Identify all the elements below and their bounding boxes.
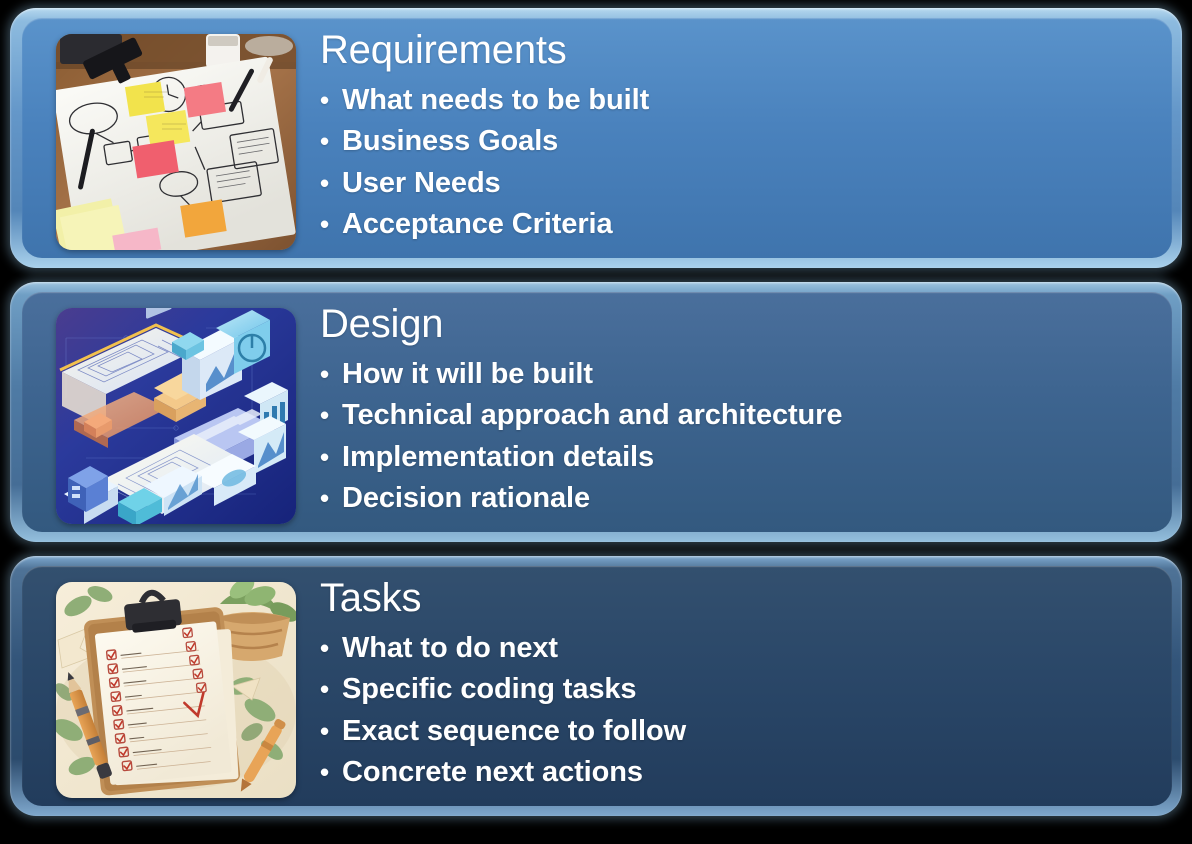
sticky-notes-whiteboard-photo-icon [56,34,296,250]
bullet-dot-icon: • [320,402,342,428]
list-item-label: Business Goals [342,121,558,162]
bullet-dot-icon: • [320,485,342,511]
card-tasks[interactable]: Tasks • What to do next • Specific codin… [10,556,1182,816]
list-item-label: Decision rationale [342,478,590,519]
card-tasks-inner: Tasks • What to do next • Specific codin… [22,566,1172,806]
list-item-label: How it will be built [342,354,593,395]
page-title-design: Design [320,304,1164,344]
list-item: • How it will be built [320,354,1164,395]
bullet-dot-icon: • [320,718,342,744]
card-design-inner: Design • How it will be built • Technica… [22,292,1172,532]
card-design-content: Design • How it will be built • Technica… [296,298,1164,520]
page-title-tasks: Tasks [320,578,1164,618]
list-item-label: What needs to be built [342,80,649,121]
list-item: • Implementation details [320,437,1164,478]
bullet-list-design: • How it will be built • Technical appro… [320,354,1164,520]
list-item: • Specific coding tasks [320,669,1164,710]
list-item-label: Acceptance Criteria [342,204,613,245]
bullet-dot-icon: • [320,128,342,154]
list-item-label: Concrete next actions [342,752,643,793]
card-tasks-content: Tasks • What to do next • Specific codin… [296,572,1164,794]
list-item: • What to do next [320,628,1164,669]
list-item-label: Exact sequence to follow [342,711,686,752]
list-item: • Concrete next actions [320,752,1164,793]
list-item-label: Specific coding tasks [342,669,636,710]
clipboard-checklist-illustration-icon [56,582,296,798]
bullet-dot-icon: • [320,87,342,113]
list-item: • Decision rationale [320,478,1164,519]
bullet-dot-icon: • [320,170,342,196]
bullet-list-tasks: • What to do next • Specific coding task… [320,628,1164,794]
list-item: • What needs to be built [320,80,1164,121]
list-item-label: User Needs [342,163,501,204]
list-item: • Business Goals [320,121,1164,162]
page-title-requirements: Requirements [320,30,1164,70]
list-item: • Exact sequence to follow [320,711,1164,752]
bullet-dot-icon: • [320,444,342,470]
list-item: • Technical approach and architecture [320,395,1164,436]
list-item: • Acceptance Criteria [320,204,1164,245]
bullet-dot-icon: • [320,759,342,785]
card-requirements-inner: Requirements • What needs to be built • … [22,18,1172,258]
list-item-label: Implementation details [342,437,654,478]
bullet-list-requirements: • What needs to be built • Business Goal… [320,80,1164,246]
bullet-dot-icon: • [320,211,342,237]
list-item: • User Needs [320,163,1164,204]
bullet-dot-icon: • [320,635,342,661]
bullet-dot-icon: • [320,676,342,702]
isometric-blueprint-illustration-icon [56,308,296,524]
list-item-label: What to do next [342,628,558,669]
card-requirements[interactable]: Requirements • What needs to be built • … [10,8,1182,268]
list-item-label: Technical approach and architecture [342,395,842,436]
card-requirements-content: Requirements • What needs to be built • … [296,24,1164,246]
card-design[interactable]: Design • How it will be built • Technica… [10,282,1182,542]
bullet-dot-icon: • [320,361,342,387]
